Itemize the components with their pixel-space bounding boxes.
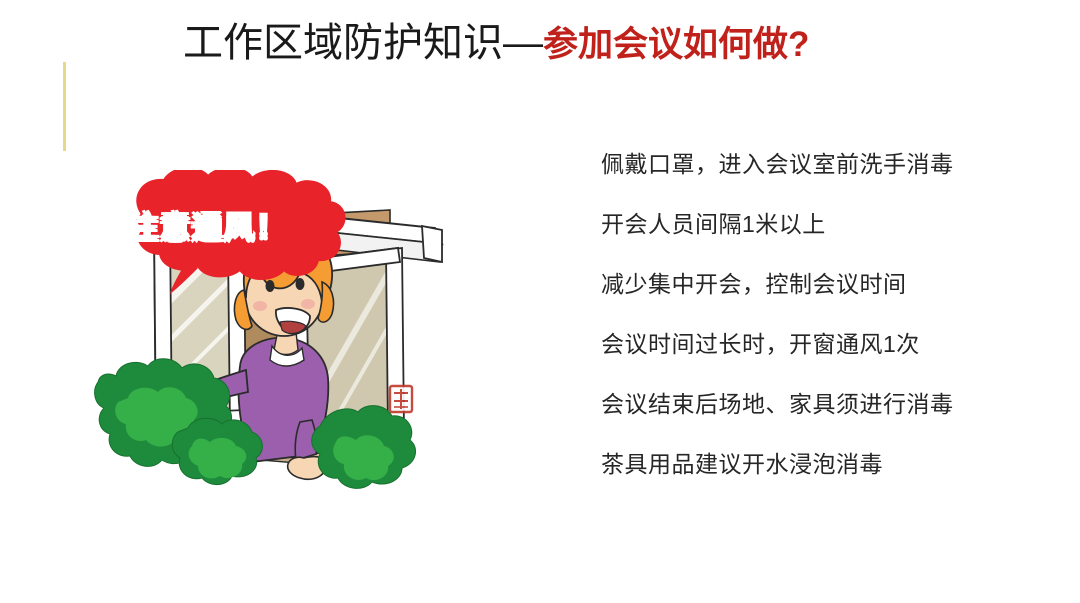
list-item: 茶具用品建议开水浸泡消毒 — [601, 450, 1021, 478]
list-item: 佩戴口罩，进入会议室前洗手消毒 — [601, 150, 1021, 178]
list-item: 减少集中开会，控制会议时间 — [601, 270, 1021, 298]
list-item: 开会人员间隔1米以上 — [601, 210, 1021, 238]
slide-canvas: 工作区域防护知识— 参加会议如何做? — [0, 0, 1080, 603]
page-title: 工作区域防护知识— 参加会议如何做? — [183, 19, 809, 69]
list-item: 会议时间过长时，开窗通风1次 — [601, 330, 1021, 358]
artist-seal — [390, 386, 412, 412]
illustration-svg — [90, 170, 450, 500]
guideline-list: 佩戴口罩，进入会议室前洗手消毒 开会人员间隔1米以上 减少集中开会，控制会议时间… — [601, 150, 1021, 478]
list-item: 会议结束后场地、家具须进行消毒 — [601, 390, 1021, 418]
page-title-main: 工作区域防护知识— — [183, 19, 543, 67]
ventilation-illustration: 注意通风！ — [90, 170, 450, 500]
page-title-accent: 参加会议如何做? — [543, 21, 809, 69]
decorative-accent-bar — [63, 62, 66, 151]
